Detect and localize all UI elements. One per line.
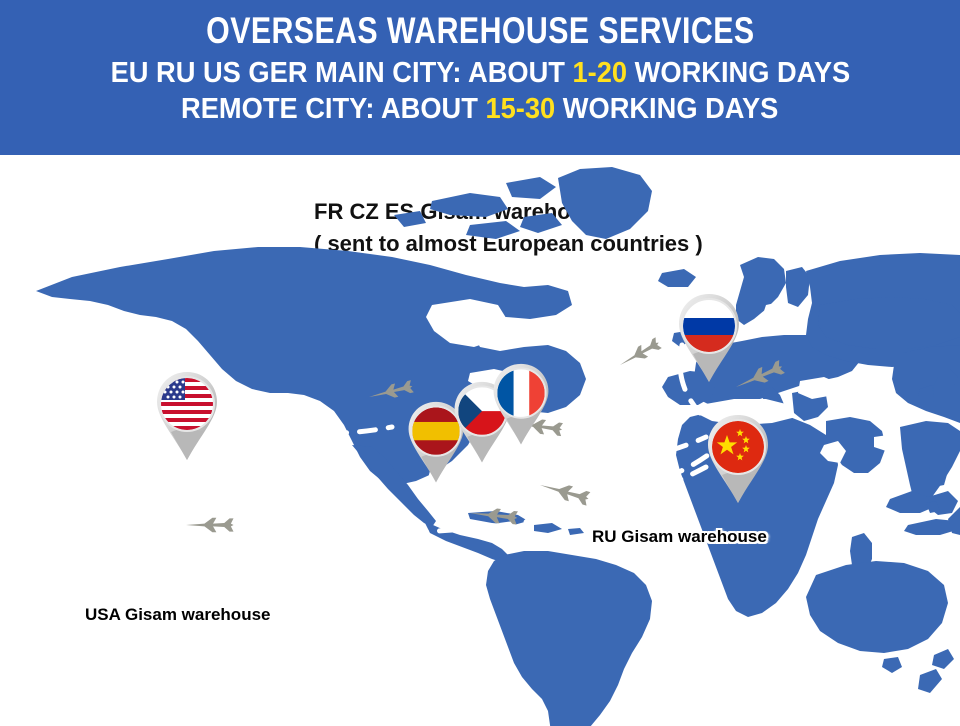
banner-line1-post: WORKING DAYS xyxy=(627,57,850,89)
world-map: USA Gisam warehouse RU Gisam warehouse xyxy=(0,155,960,726)
arctic-islands-3 xyxy=(466,221,520,239)
caspian-sea xyxy=(850,379,874,407)
caribbean-hispaniola xyxy=(534,523,562,533)
fr-flag-icon xyxy=(489,362,553,448)
banner-line1-highlight: 1-20 xyxy=(572,57,627,89)
page-title: OVERSEAS WAREHOUSE SERVICES xyxy=(206,10,754,52)
iceland xyxy=(658,269,696,287)
tasmania xyxy=(882,657,902,673)
arctic-islands-5 xyxy=(394,211,426,227)
banner-line2-post: WORKING DAYS xyxy=(555,93,778,125)
header-banner: OVERSEAS WAREHOUSE SERVICES EU RU US GER… xyxy=(0,0,960,155)
arctic-islands xyxy=(430,193,508,217)
arctic-islands-2 xyxy=(506,177,556,199)
airplane-icon-3 xyxy=(538,478,591,507)
new-zealand-s xyxy=(918,669,942,693)
us-flag-icon xyxy=(152,370,222,464)
russia-west xyxy=(818,297,960,349)
label-ru-warehouse: RU Gisam warehouse xyxy=(592,527,767,547)
map-pin-us[interactable] xyxy=(152,370,222,464)
finland xyxy=(786,267,810,307)
banner-line2-highlight: 15-30 xyxy=(486,93,556,125)
banner-line2-pre: REMOTE CITY: ABOUT xyxy=(181,93,485,125)
cn-flag-icon xyxy=(703,413,773,507)
ru-flag-icon xyxy=(674,292,744,386)
greenland xyxy=(558,167,652,239)
arctic-islands-4 xyxy=(520,213,562,233)
baltic-sea xyxy=(762,301,792,327)
banner-subtitle-line-1: EU RU US GER MAIN CITY: ABOUT 1-20 WORKI… xyxy=(110,56,850,90)
map-pin-cn[interactable] xyxy=(703,413,773,507)
australia xyxy=(806,561,948,653)
south-america xyxy=(486,551,652,726)
new-zealand-n xyxy=(932,649,954,669)
airplane-icon-5 xyxy=(186,518,234,533)
oceania-and-islands xyxy=(806,369,960,693)
map-pin-ru[interactable] xyxy=(674,292,744,386)
banner-subtitle-line-2: REMOTE CITY: ABOUT 15-30 WORKING DAYS xyxy=(181,92,778,126)
banner-line1-pre: EU RU US GER MAIN CITY: ABOUT xyxy=(110,57,572,89)
label-usa-warehouse: USA Gisam warehouse xyxy=(85,605,271,625)
caribbean-pr xyxy=(568,528,584,535)
map-pin-fr[interactable] xyxy=(489,362,553,448)
